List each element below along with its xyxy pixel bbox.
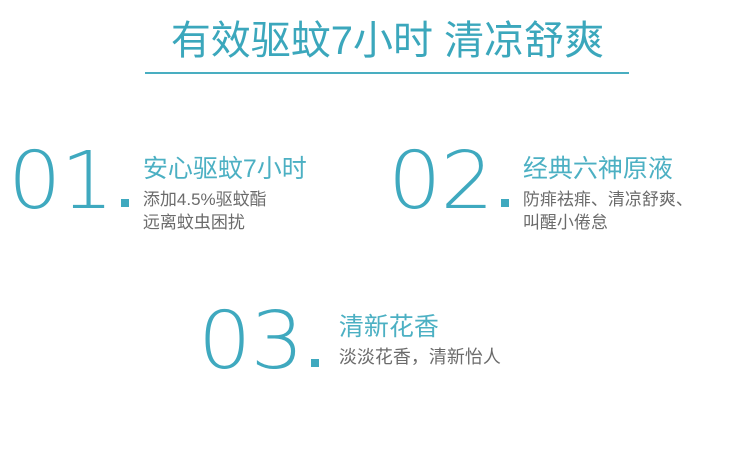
feature-description-line: 叫醒小倦怠: [523, 211, 693, 234]
feature-description-line: 远离蚊虫困扰: [143, 211, 307, 234]
feature-number-group: 01: [8, 148, 129, 210]
feature-description-line: 防痱祛痱、清凉舒爽、: [523, 188, 693, 211]
feature-number-group: 03: [198, 308, 319, 370]
feature-item-02: 02 经典六神原液 防痱祛痱、清凉舒爽、 叫醒小倦怠: [388, 148, 693, 234]
feature-text-group: 经典六神原液 防痱祛痱、清凉舒爽、 叫醒小倦怠: [523, 148, 693, 234]
square-bullet-icon: [311, 359, 319, 367]
feature-text-group: 清新花香 淡淡花香，清新怡人: [339, 308, 501, 369]
feature-number: 01: [8, 152, 113, 210]
title-underline-divider: [145, 72, 629, 74]
feature-heading: 安心驱蚊7小时: [143, 154, 307, 184]
feature-number: 03: [198, 312, 303, 370]
feature-description-line: 淡淡花香，清新怡人: [339, 346, 501, 369]
feature-number-group: 02: [388, 148, 509, 210]
feature-text-group: 安心驱蚊7小时 添加4.5%驱蚊酯 远离蚊虫困扰: [143, 148, 307, 234]
product-feature-banner: 有效驱蚊7小时 清凉舒爽 01 安心驱蚊7小时 添加4.5%驱蚊酯 远离蚊虫困扰…: [0, 0, 750, 464]
banner-title-block: 有效驱蚊7小时 清凉舒爽: [145, 14, 630, 74]
page-title: 有效驱蚊7小时 清凉舒爽: [145, 14, 630, 68]
feature-item-01: 01 安心驱蚊7小时 添加4.5%驱蚊酯 远离蚊虫困扰: [8, 148, 307, 234]
feature-number: 02: [388, 152, 493, 210]
feature-item-03: 03 清新花香 淡淡花香，清新怡人: [198, 308, 501, 370]
square-bullet-icon: [501, 199, 509, 207]
feature-description-line: 添加4.5%驱蚊酯: [143, 188, 307, 211]
feature-heading: 清新花香: [339, 312, 501, 342]
square-bullet-icon: [121, 199, 129, 207]
feature-heading: 经典六神原液: [523, 154, 693, 184]
